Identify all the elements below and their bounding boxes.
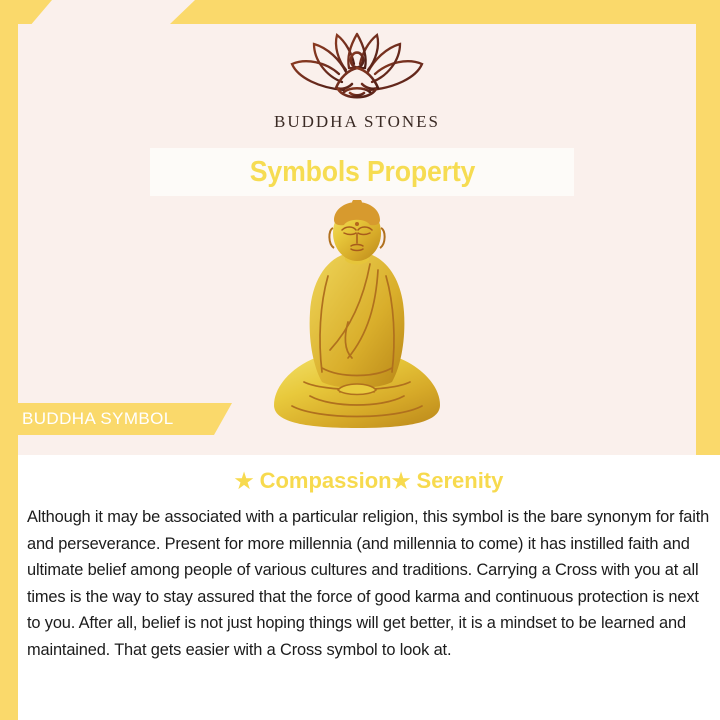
- description-paragraph: Although it may be associated with a par…: [27, 504, 711, 664]
- buddha-illustration: [18, 200, 696, 432]
- title-banner: Symbols Property: [150, 148, 574, 196]
- subtitle-word-compassion: Compassion: [260, 468, 392, 493]
- infographic-page: BUDDHA STONES Symbols Property: [0, 0, 720, 720]
- star-icon-2: ★: [392, 470, 411, 493]
- page-title: Symbols Property: [249, 156, 474, 189]
- decor-top-bar: [0, 0, 720, 24]
- brand-name: BUDDHA STONES: [274, 112, 440, 132]
- subtitle: ★ Compassion★ Serenity: [18, 468, 720, 494]
- golden-seated-buddha-icon: [252, 200, 462, 432]
- description-panel: ★ Compassion★ Serenity Although it may b…: [18, 455, 720, 720]
- category-badge: BUDDHA SYMBOL: [0, 403, 232, 435]
- brand-logo: BUDDHA STONES: [18, 30, 696, 132]
- lotus-meditation-icon: [282, 30, 432, 108]
- star-icon-1: ★: [235, 470, 254, 493]
- category-badge-label: BUDDHA SYMBOL: [0, 409, 174, 429]
- decor-left-bar: [0, 14, 18, 720]
- subtitle-word-serenity: Serenity: [417, 468, 504, 493]
